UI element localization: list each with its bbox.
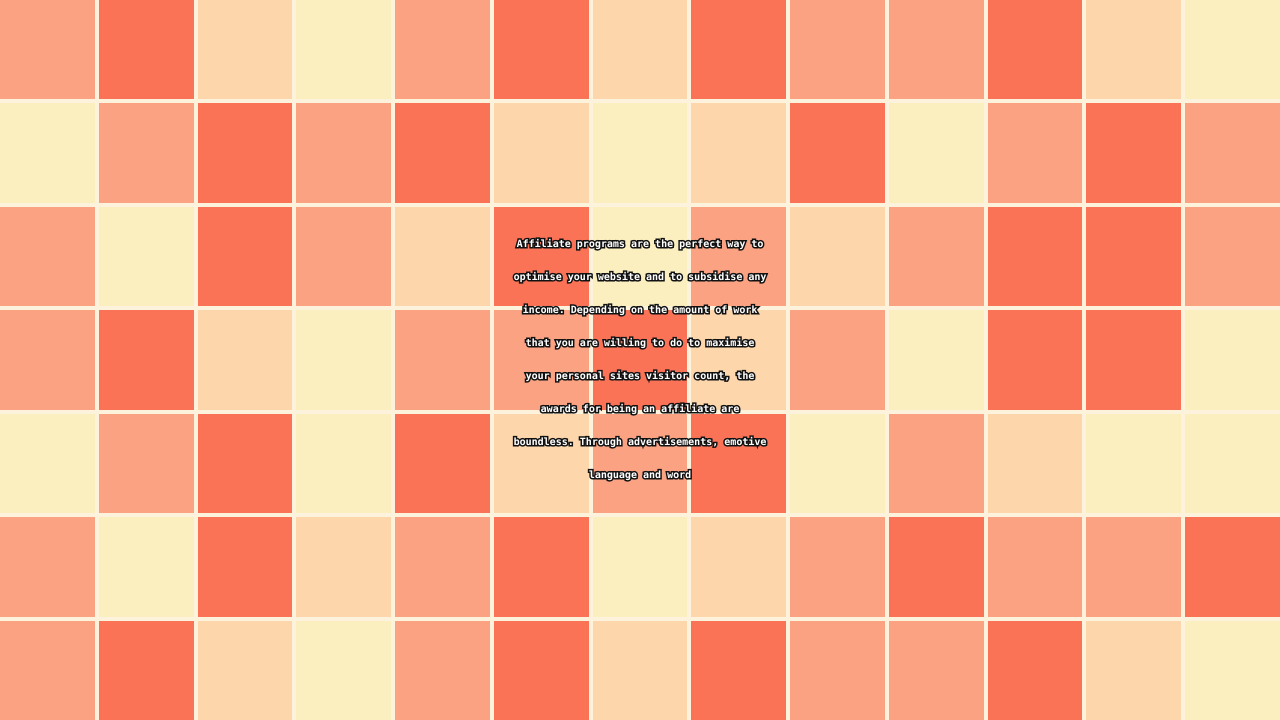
color-tile — [198, 414, 293, 513]
color-tile — [593, 207, 688, 306]
color-tile — [395, 103, 490, 202]
color-tile — [988, 517, 1083, 616]
color-tile — [691, 310, 786, 409]
color-tile — [790, 517, 885, 616]
color-tile — [494, 207, 589, 306]
color-tile — [1086, 310, 1181, 409]
image-canvas: Affiliate programs are the perfect way t… — [0, 0, 1280, 720]
color-tile — [691, 517, 786, 616]
color-tile — [0, 621, 95, 720]
color-tile — [494, 517, 589, 616]
color-tile — [988, 310, 1083, 409]
color-tile — [198, 0, 293, 99]
color-tile — [1185, 310, 1280, 409]
color-tile — [0, 310, 95, 409]
color-tile — [99, 517, 194, 616]
color-tile — [395, 0, 490, 99]
color-tile — [99, 310, 194, 409]
color-tile — [593, 0, 688, 99]
color-tile — [0, 517, 95, 616]
color-tile — [889, 0, 984, 99]
color-tile — [0, 207, 95, 306]
color-tile — [889, 310, 984, 409]
color-tile — [99, 414, 194, 513]
color-tile — [1086, 414, 1181, 513]
color-tile — [593, 103, 688, 202]
color-tile-grid — [0, 0, 1280, 720]
color-tile — [296, 310, 391, 409]
color-tile — [395, 207, 490, 306]
color-tile — [395, 517, 490, 616]
color-tile — [494, 0, 589, 99]
color-tile — [988, 207, 1083, 306]
color-tile — [691, 207, 786, 306]
color-tile — [198, 517, 293, 616]
color-tile — [691, 0, 786, 99]
color-tile — [494, 621, 589, 720]
color-tile — [296, 517, 391, 616]
color-tile — [395, 310, 490, 409]
color-tile — [296, 207, 391, 306]
color-tile — [988, 0, 1083, 99]
color-tile — [691, 414, 786, 513]
color-tile — [198, 207, 293, 306]
color-tile — [99, 621, 194, 720]
color-tile — [296, 103, 391, 202]
color-tile — [296, 0, 391, 99]
color-tile — [889, 103, 984, 202]
color-tile — [198, 310, 293, 409]
color-tile — [790, 621, 885, 720]
color-tile — [1185, 0, 1280, 99]
color-tile — [198, 103, 293, 202]
color-tile — [691, 621, 786, 720]
color-tile — [198, 621, 293, 720]
color-tile — [790, 103, 885, 202]
color-tile — [1086, 0, 1181, 99]
color-tile — [99, 207, 194, 306]
color-tile — [1185, 621, 1280, 720]
color-tile — [99, 0, 194, 99]
color-tile — [1185, 414, 1280, 513]
color-tile — [1086, 103, 1181, 202]
color-tile — [0, 103, 95, 202]
color-tile — [593, 310, 688, 409]
color-tile — [99, 103, 194, 202]
color-tile — [494, 310, 589, 409]
color-tile — [988, 621, 1083, 720]
color-tile — [790, 0, 885, 99]
color-tile — [593, 414, 688, 513]
color-tile — [1185, 517, 1280, 616]
color-tile — [593, 517, 688, 616]
color-tile — [296, 414, 391, 513]
color-tile — [988, 414, 1083, 513]
color-tile — [889, 517, 984, 616]
color-tile — [494, 414, 589, 513]
color-tile — [494, 103, 589, 202]
color-tile — [691, 103, 786, 202]
color-tile — [889, 207, 984, 306]
color-tile — [0, 414, 95, 513]
color-tile — [790, 207, 885, 306]
color-tile — [296, 621, 391, 720]
color-tile — [1086, 517, 1181, 616]
color-tile — [889, 621, 984, 720]
color-tile — [790, 414, 885, 513]
color-tile — [790, 310, 885, 409]
color-tile — [395, 621, 490, 720]
color-tile — [1086, 207, 1181, 306]
color-tile — [988, 103, 1083, 202]
color-tile — [1185, 103, 1280, 202]
color-tile — [1185, 207, 1280, 306]
color-tile — [593, 621, 688, 720]
color-tile — [889, 414, 984, 513]
color-tile — [0, 0, 95, 99]
color-tile — [1086, 621, 1181, 720]
color-tile — [395, 414, 490, 513]
